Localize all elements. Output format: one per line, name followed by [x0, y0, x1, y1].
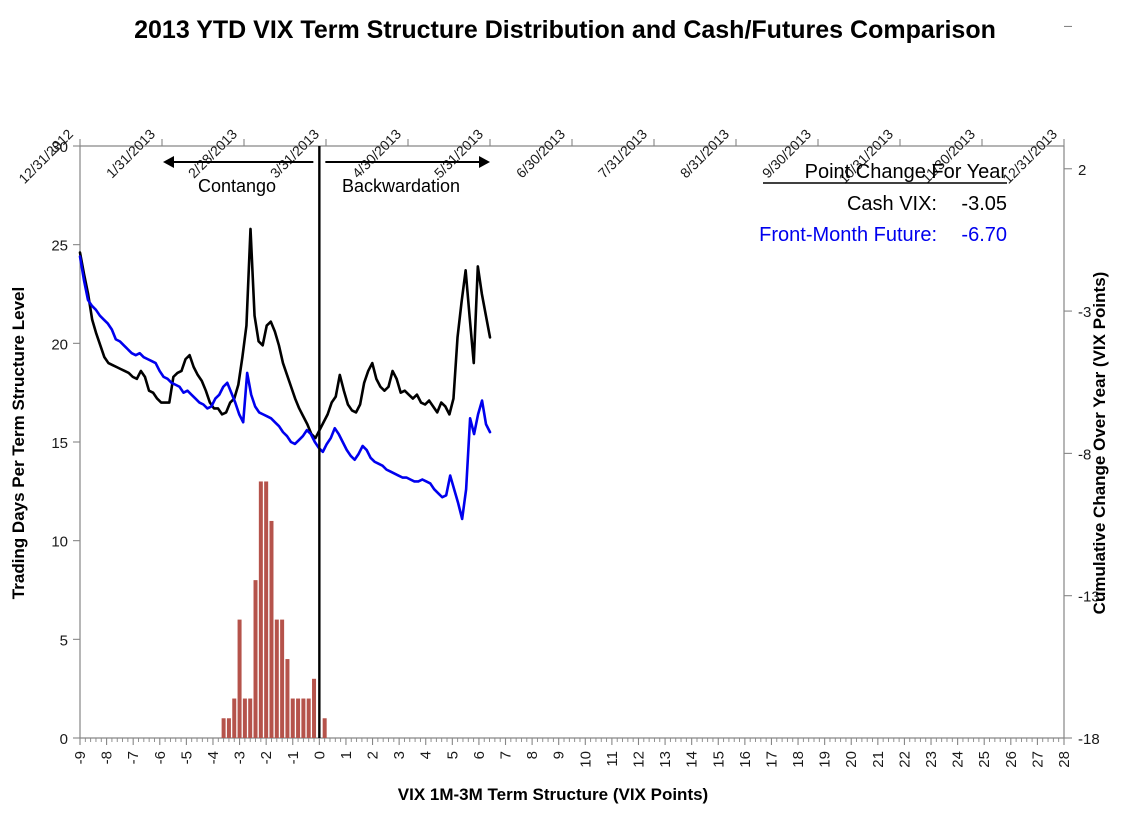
histogram-bars [222, 481, 327, 738]
histogram-bar [323, 718, 327, 738]
bottom-tick-label: 11 [604, 751, 621, 767]
bottom-tick-label: 19 [817, 751, 834, 768]
histogram-bar [312, 679, 316, 738]
bottom-tick-label: -3 [232, 751, 249, 764]
histogram-bar [275, 620, 279, 738]
contango-label: Contango [198, 176, 276, 196]
right-tick-label: 2 [1078, 162, 1086, 179]
histogram-bar [248, 699, 252, 738]
bottom-tick-label: 27 [1029, 751, 1046, 768]
bottom-tick-label: 9 [551, 751, 568, 759]
bottom-tick-label: 16 [737, 751, 754, 768]
bottom-tick-label: 1 [338, 751, 355, 759]
left-tick-label: 20 [51, 336, 68, 353]
histogram-bar [269, 521, 273, 738]
left-axis-title: Trading Days Per Term Structure Level [9, 287, 28, 599]
top-tick-label: 8/31/2013 [677, 126, 733, 182]
left-tick-label: 5 [60, 632, 68, 649]
histogram-bar [264, 481, 268, 738]
backwardation-label: Backwardation [342, 176, 460, 196]
left-tick-label: 15 [51, 435, 68, 452]
bottom-tick-label: -2 [258, 751, 275, 764]
histogram-bar [227, 718, 231, 738]
bottom-tick-label: -1 [285, 751, 302, 764]
left-value-axis: 051015202530 [51, 139, 80, 748]
top-tick-label: 2/28/2013 [185, 126, 241, 182]
bottom-tick-label: 4 [418, 751, 435, 759]
line-series [80, 229, 490, 519]
histogram-bar [254, 580, 258, 738]
bottom-tick-label: 8 [524, 751, 541, 759]
histogram-bar [222, 718, 226, 738]
histogram-bar [280, 620, 284, 738]
histogram-bar [232, 699, 236, 738]
bottom-tick-label: 21 [870, 751, 887, 768]
bottom-tick-label: 3 [391, 751, 408, 759]
bottom-tick-label: -5 [178, 751, 195, 764]
bottom-tick-label: 5 [444, 751, 461, 759]
histogram-bar [259, 481, 263, 738]
histogram-bar [307, 699, 311, 738]
bottom-tick-label: 25 [976, 751, 993, 768]
vix-term-structure-chart: 2013 YTD VIX Term Structure Distribution… [0, 0, 1130, 817]
bottom-tick-label: 17 [763, 751, 780, 768]
bottom-tick-label: 26 [1003, 751, 1020, 768]
histogram-bar [243, 699, 247, 738]
top-tick-label: 6/30/2013 [513, 126, 569, 182]
bottom-tick-label: 14 [684, 751, 701, 768]
bottom-tick-label: 2 [365, 751, 382, 759]
bottom-tick-label: -9 [72, 751, 89, 764]
left-tick-label: 30 [51, 139, 68, 156]
bottom-tick-label: 24 [950, 751, 967, 768]
histogram-bar [301, 699, 305, 738]
right-tick-label: -18 [1078, 731, 1100, 748]
histogram-bar [238, 620, 242, 738]
backwardation-arrow-head [479, 156, 490, 168]
right-axis-title: Cumulative Change Over Year (VIX Points) [1090, 272, 1109, 615]
legend-header: Point Change For Year [805, 161, 1008, 183]
front-month-future-label: Front-Month Future: [759, 224, 937, 246]
bottom-tick-label: -6 [152, 751, 169, 764]
regime-annotations: Contango Backwardation [163, 156, 490, 196]
series-line-front-month-future [80, 257, 490, 519]
top-tick-label: 5/31/2013 [431, 126, 487, 182]
histogram-bar [291, 699, 295, 738]
top-tick-label: 4/30/2013 [349, 126, 405, 182]
bottom-tick-label: -8 [99, 751, 116, 764]
top-tick-label: 12/31/2013 [999, 126, 1060, 187]
top-tick-label: 7/31/2013 [595, 126, 651, 182]
bottom-tick-label: 10 [577, 751, 594, 768]
contango-arrow-head [163, 156, 174, 168]
bottom-axis-title: VIX 1M-3M Term Structure (VIX Points) [398, 785, 708, 804]
bottom-tick-label: 0 [311, 751, 328, 759]
histogram-bar [285, 659, 289, 738]
bottom-tick-label: 15 [710, 751, 727, 768]
bottom-value-axis: -9-8-7-6-5-4-3-2-10123456789101112131415… [72, 738, 1073, 768]
bottom-tick-label: -4 [205, 751, 222, 764]
chart-container: 2013 YTD VIX Term Structure Distribution… [0, 0, 1130, 817]
top-tick-label: 3/31/2013 [267, 126, 323, 182]
front-month-future-value: -6.70 [961, 224, 1007, 246]
bottom-tick-label: 28 [1056, 751, 1073, 768]
series-line-cash-vix [80, 229, 490, 438]
cash-vix-value: -3.05 [961, 193, 1007, 215]
bottom-tick-label: 20 [843, 751, 860, 768]
chart-title: 2013 YTD VIX Term Structure Distribution… [134, 16, 996, 44]
left-tick-label: 25 [51, 238, 68, 255]
bottom-tick-label: -7 [125, 751, 142, 764]
bottom-tick-label: 18 [790, 751, 807, 768]
histogram-bar [296, 699, 300, 738]
bottom-tick-label: 7 [498, 751, 515, 759]
left-tick-label: 0 [60, 731, 68, 748]
cash-vix-label: Cash VIX: [847, 193, 937, 215]
bottom-tick-label: 6 [471, 751, 488, 759]
top-tick-label: 12/31/2012 [15, 126, 76, 187]
point-change-legend: Point Change For Year Cash VIX: -3.05 Fr… [759, 161, 1007, 246]
bottom-tick-label: 23 [923, 751, 940, 768]
bottom-tick-label: 13 [657, 751, 674, 768]
left-tick-label: 10 [51, 534, 68, 551]
top-tick-label: 1/31/2013 [103, 126, 159, 182]
bottom-tick-label: 12 [630, 751, 647, 768]
bottom-tick-label: 22 [896, 751, 913, 768]
